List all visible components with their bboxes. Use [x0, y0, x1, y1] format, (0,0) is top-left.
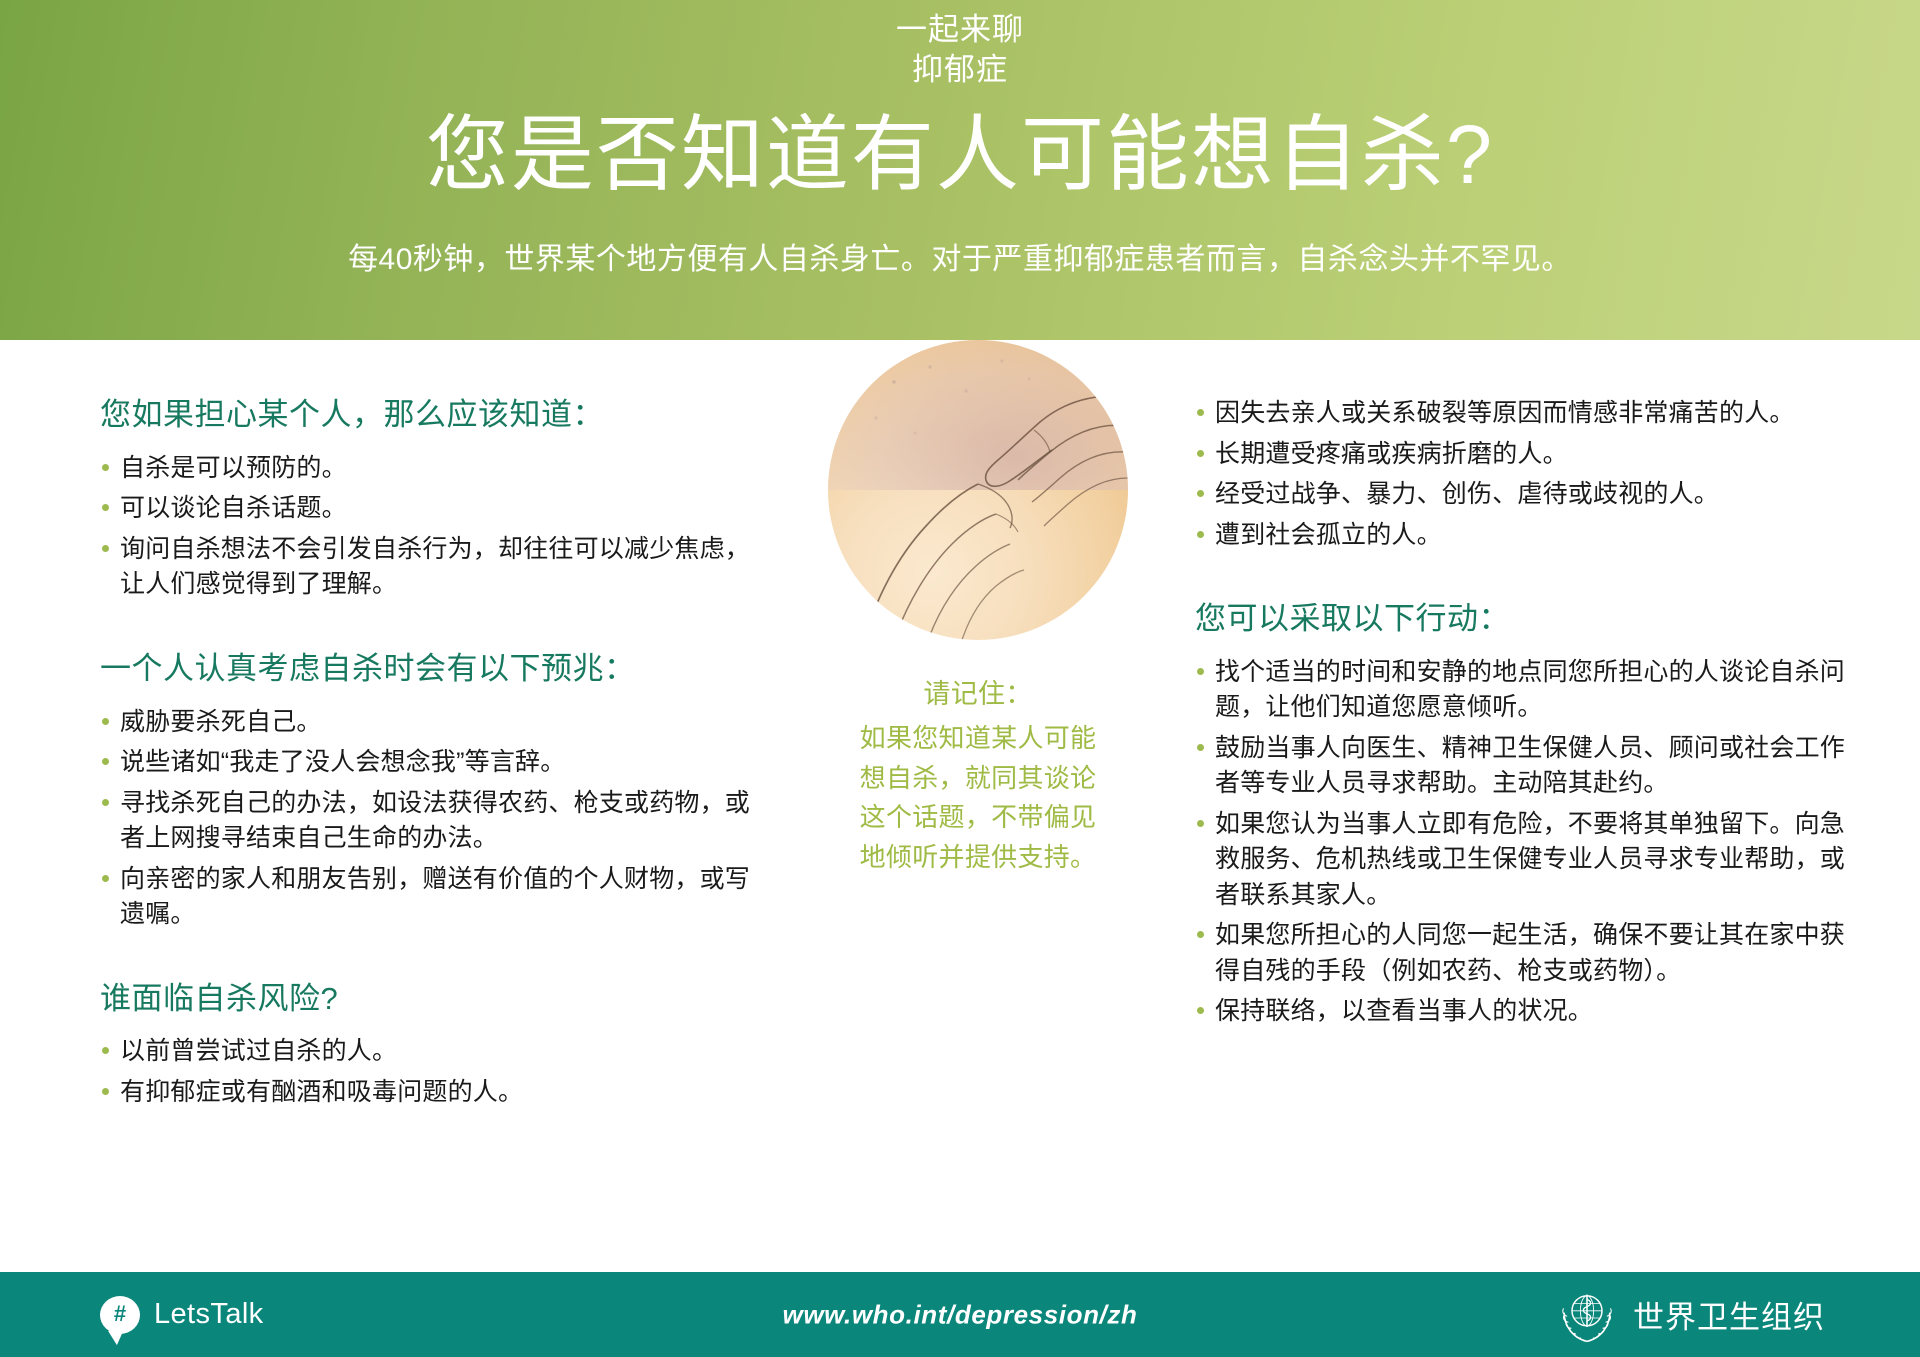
page-title: 您是否知道有人可能想自杀? — [0, 113, 1920, 196]
remember-line: 这个话题，不带偏见 — [768, 798, 1188, 838]
left-section-1-list: 自杀是可以预防的。 可以谈论自杀话题。 询问自杀想法不会引发自杀行为，却往往可以… — [100, 451, 760, 603]
remember-line: 想自杀，就同其谈论 — [768, 759, 1188, 799]
center-column: 请记住： 如果您知道某人可能 想自杀，就同其谈论 这个话题，不带偏见 地倾听并提… — [768, 340, 1188, 877]
list-item: 长期遭受疼痛或疾病折磨的人。 — [1195, 437, 1845, 473]
list-item: 以前曾尝试过自杀的人。 — [100, 1034, 760, 1070]
right-column: 因失去亲人或关系破裂等原因而情感非常痛苦的人。 长期遭受疼痛或疾病折磨的人。 经… — [1195, 396, 1845, 1035]
list-item: 因失去亲人或关系破裂等原因而情感非常痛苦的人。 — [1195, 396, 1845, 432]
list-item: 保持联络，以查看当事人的状况。 — [1195, 994, 1845, 1030]
actions-list: 找个适当的时间和安静的地点同您所担心的人谈论自杀问题，让他们知道您愿意倾听。 鼓… — [1195, 655, 1845, 1030]
remember-line: 地倾听并提供支持。 — [768, 838, 1188, 878]
remember-line: 如果您知道某人可能 — [768, 719, 1188, 759]
campaign-line-2: 抑郁症 — [0, 50, 1920, 90]
who-emblem-icon — [1557, 1285, 1617, 1345]
list-item: 有抑郁症或有酗酒和吸毒问题的人。 — [100, 1075, 760, 1111]
list-item: 询问自杀想法不会引发自杀行为，却往往可以减少焦虑，让人们感觉得到了理解。 — [100, 532, 760, 603]
footer-content: # LetsTalk www.who.int/depression/zh — [0, 1272, 1920, 1357]
list-item: 寻找杀死自己的办法，如设法获得农药、枪支或药物，或者上网搜寻结束自己生命的办法。 — [100, 786, 760, 857]
campaign-line-1: 一起来聊 — [0, 10, 1920, 50]
list-item: 如果您认为当事人立即有危险，不要将其单独留下。向急救服务、危机热线或卫生保健专业… — [1195, 807, 1845, 914]
poster-root: 一起来聊 抑郁症 您是否知道有人可能想自杀? 每40秒钟，世界某个地方便有人自杀… — [0, 0, 1920, 1357]
risk-factors-list: 因失去亲人或关系破裂等原因而情感非常痛苦的人。 长期遭受疼痛或疾病折磨的人。 经… — [1195, 396, 1845, 553]
header-subtitle: 每40秒钟，世界某个地方便有人自杀身亡。对于严重抑郁症患者而言，自杀念头并不罕见… — [0, 242, 1920, 278]
left-section-2-heading: 一个人认真考虑自杀时会有以下预兆： — [100, 650, 760, 689]
header-content: 一起来聊 抑郁症 您是否知道有人可能想自杀? 每40秒钟，世界某个地方便有人自杀… — [0, 0, 1920, 340]
spacer — [100, 938, 760, 980]
list-item: 鼓励当事人向医生、精神卫生保健人员、顾问或社会工作者等专业人员寻求帮助。主动陪其… — [1195, 731, 1845, 802]
list-item: 遭到社会孤立的人。 — [1195, 518, 1845, 554]
list-item: 经受过战争、暴力、创伤、虐待或歧视的人。 — [1195, 477, 1845, 513]
spacer — [1195, 558, 1845, 600]
poster-footer: # LetsTalk www.who.int/depression/zh — [0, 1272, 1920, 1357]
list-item: 自杀是可以预防的。 — [100, 451, 760, 487]
actions-heading: 您可以采取以下行动： — [1195, 600, 1845, 639]
remember-title: 请记住： — [768, 674, 1188, 715]
left-column: 您如果担心某个人，那么应该知道： 自杀是可以预防的。 可以谈论自杀话题。 询问自… — [100, 396, 760, 1115]
hands-illustration — [828, 340, 1128, 640]
hands-svg — [828, 340, 1128, 640]
left-section-2-list: 威胁要杀死自己。 说些诸如“我走了没人会想念我”等言辞。 寻找杀死自己的办法，如… — [100, 705, 760, 933]
poster-body: 您如果担心某个人，那么应该知道： 自杀是可以预防的。 可以谈论自杀话题。 询问自… — [0, 340, 1920, 1272]
remember-note: 请记住： 如果您知道某人可能 想自杀，就同其谈论 这个话题，不带偏见 地倾听并提… — [768, 674, 1188, 877]
left-section-1-heading: 您如果担心某个人，那么应该知道： — [100, 396, 760, 435]
left-section-3-heading: 谁面临自杀风险? — [100, 980, 760, 1019]
list-item: 如果您所担心的人同您一起生活，确保不要让其在家中获得自残的手段（例如农药、枪支或… — [1195, 918, 1845, 989]
list-item: 向亲密的家人和朋友告别，赠送有价值的个人财物，或写遗嘱。 — [100, 862, 760, 933]
list-item: 说些诸如“我走了没人会想念我”等言辞。 — [100, 745, 760, 781]
who-branding: 世界卫生组织 — [1557, 1285, 1825, 1345]
campaign-title: 一起来聊 抑郁症 — [0, 10, 1920, 91]
list-item: 可以谈论自杀话题。 — [100, 491, 760, 527]
organization-name: 世界卫生组织 — [1633, 1292, 1825, 1337]
left-section-3-list: 以前曾尝试过自杀的人。 有抑郁症或有酗酒和吸毒问题的人。 — [100, 1034, 760, 1110]
poster-header: 一起来聊 抑郁症 您是否知道有人可能想自杀? 每40秒钟，世界某个地方便有人自杀… — [0, 0, 1920, 340]
spacer — [100, 608, 760, 650]
list-item: 找个适当的时间和安静的地点同您所担心的人谈论自杀问题，让他们知道您愿意倾听。 — [1195, 655, 1845, 726]
list-item: 威胁要杀死自己。 — [100, 705, 760, 741]
